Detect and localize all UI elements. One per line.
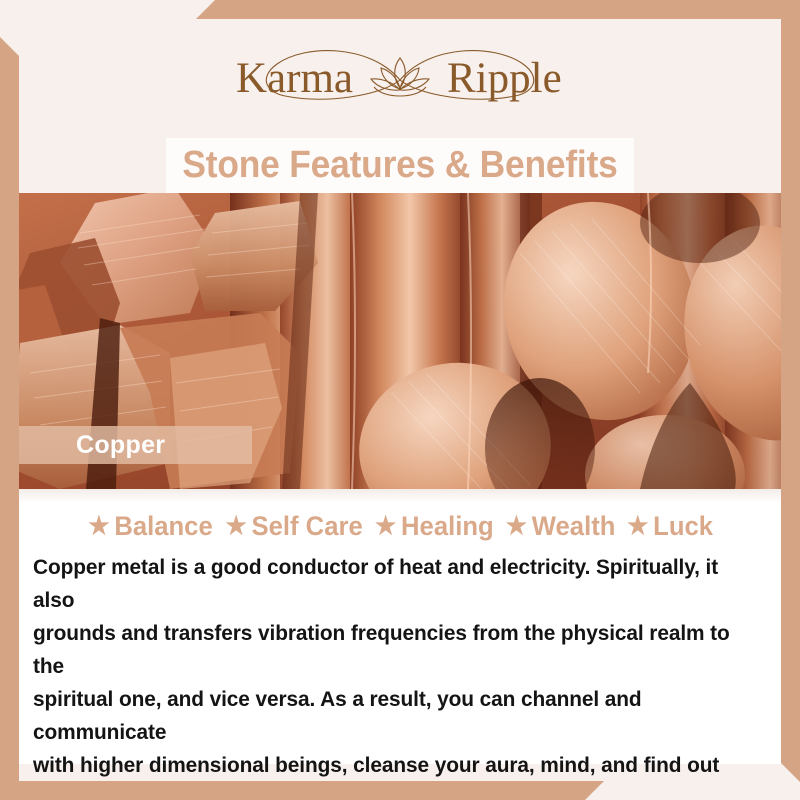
product-label: Copper bbox=[19, 426, 252, 464]
description-line: grounds and transfers vibration frequenc… bbox=[33, 617, 751, 683]
benefit-label: Balance bbox=[114, 511, 212, 542]
benefit-item: ★ Balance bbox=[88, 511, 212, 542]
benefit-label: Healing bbox=[401, 511, 494, 542]
benefit-item: ★ Luck bbox=[621, 511, 713, 542]
frame-right-accent bbox=[781, 0, 800, 800]
description-line: spiritual one, and vice versa. As a resu… bbox=[33, 683, 751, 749]
benefit-item: ★ Wealth bbox=[500, 511, 615, 542]
benefit-label: Wealth bbox=[532, 511, 616, 542]
product-photo: Copper bbox=[0, 193, 800, 489]
brand-name-left: Karma bbox=[236, 55, 353, 102]
star-icon: ★ bbox=[506, 514, 527, 539]
star-icon: ★ bbox=[627, 514, 648, 539]
description-line: Copper metal is a good conductor of heat… bbox=[33, 551, 751, 617]
product-label-text: Copper bbox=[19, 431, 165, 460]
star-icon: ★ bbox=[88, 514, 109, 539]
card-top-fade bbox=[19, 489, 781, 503]
frame-top-accent bbox=[0, 0, 800, 19]
benefit-item: ★ Healing bbox=[370, 511, 494, 542]
product-info-card: Karma Ripple Stone Features & Benefits bbox=[0, 0, 800, 800]
description-text: Copper metal is a good conductor of heat… bbox=[33, 551, 751, 800]
title-banner: Stone Features & Benefits bbox=[166, 138, 634, 193]
brand-logo-svg: Karma Ripple bbox=[185, 30, 615, 130]
benefit-item: ★ Self Care bbox=[220, 511, 363, 542]
star-icon: ★ bbox=[375, 514, 396, 539]
benefit-label: Luck bbox=[653, 511, 713, 542]
brand-name-right: Ripple bbox=[447, 55, 562, 102]
brand-logo: Karma Ripple bbox=[0, 24, 800, 136]
page-title: Stone Features & Benefits bbox=[182, 144, 617, 187]
frame-left-accent bbox=[0, 0, 19, 800]
benefit-label: Self Care bbox=[251, 511, 362, 542]
benefits-list: ★ Balance ★ Self Care ★ Healing ★ Wealth… bbox=[19, 511, 781, 542]
content-card: ★ Balance ★ Self Care ★ Healing ★ Wealth… bbox=[19, 489, 781, 764]
star-icon: ★ bbox=[225, 514, 246, 539]
